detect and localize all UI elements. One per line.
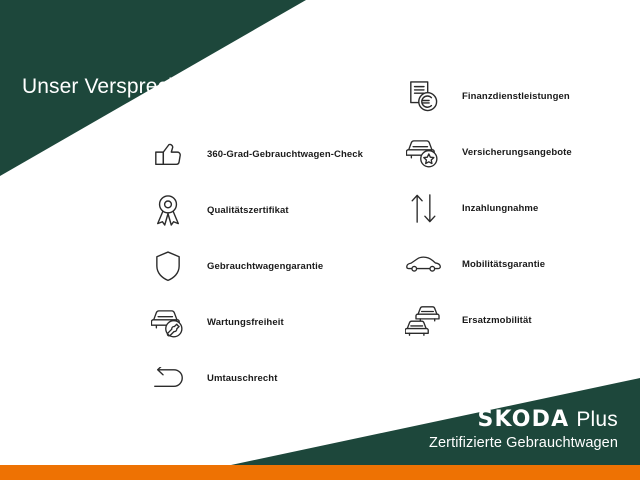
headline-line-1: Unser Versprechen. xyxy=(22,73,209,102)
benefit-item: Qualitätszertifikat xyxy=(145,182,363,238)
benefit-label: 360-Grad-Gebrauchtwagen-Check xyxy=(207,149,363,160)
benefit-item: Umtauschrecht xyxy=(145,350,363,406)
benefit-item: Wartungsfreiheit xyxy=(145,294,363,350)
return-arrow-icon xyxy=(145,358,191,398)
brand-lockup: ŠKODA Plus Zertifizierte Gebrauchtwagen xyxy=(429,409,618,451)
benefit-label: Ersatzmobilität xyxy=(462,315,532,326)
car-side-icon xyxy=(400,244,446,284)
benefit-item: Ersatzmobilität xyxy=(400,292,572,348)
document-euro-icon xyxy=(400,76,446,116)
two-cars-icon xyxy=(400,300,446,340)
benefit-item: Versicherungsangebote xyxy=(400,124,572,180)
up-down-arrows-icon xyxy=(400,188,446,228)
poster-canvas: Unser Versprechen. Ihr Plus. 360-Grad-Ge… xyxy=(0,0,640,480)
car-star-icon xyxy=(400,132,446,172)
car-wrench-icon xyxy=(145,302,191,342)
shield-icon xyxy=(145,246,191,286)
benefit-list-right: Finanzdienstleistungen Versicherungsange… xyxy=(400,68,572,348)
thumbs-up-icon xyxy=(145,134,191,174)
benefit-label: Qualitätszertifikat xyxy=(207,205,289,216)
benefit-item: Finanzdienstleistungen xyxy=(400,68,572,124)
brand-title-row: ŠKODA Plus xyxy=(429,409,618,431)
benefit-item: Gebrauchtwagengarantie xyxy=(145,238,363,294)
award-rosette-icon xyxy=(145,190,191,230)
benefit-item: Inzahlungnahme xyxy=(400,180,572,236)
brand-subtitle: Zertifizierte Gebrauchtwagen xyxy=(429,436,618,451)
orange-footer-bar xyxy=(0,465,640,480)
benefit-item: 360-Grad-Gebrauchtwagen-Check xyxy=(145,126,363,182)
benefit-label: Mobilitätsgarantie xyxy=(462,259,545,270)
benefit-label: Gebrauchtwagengarantie xyxy=(207,261,323,272)
benefit-label: Versicherungsangebote xyxy=(462,147,572,158)
benefit-item: Mobilitätsgarantie xyxy=(400,236,572,292)
benefit-label: Umtauschrecht xyxy=(207,373,277,384)
benefit-label: Inzahlungnahme xyxy=(462,203,538,214)
benefit-list-left: 360-Grad-Gebrauchtwagen-Check Qualitätsz… xyxy=(145,126,363,406)
brand-plus-label: Plus xyxy=(576,409,618,430)
benefit-label: Wartungsfreiheit xyxy=(207,317,284,328)
benefit-label: Finanzdienstleistungen xyxy=(462,91,570,102)
skoda-wordmark: ŠKODA xyxy=(477,409,569,431)
